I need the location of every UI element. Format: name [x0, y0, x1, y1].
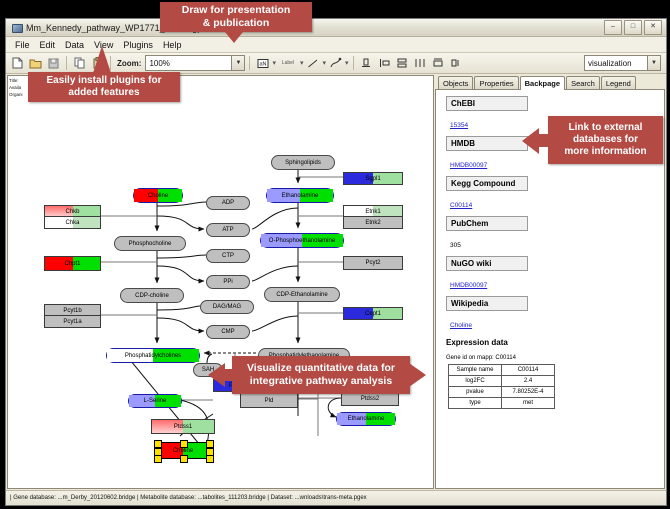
metabolite-label: Phosphocholine	[129, 241, 172, 247]
menu-help[interactable]: Help	[158, 39, 187, 51]
metabolite-label: Phosphatidylcholines	[125, 353, 181, 359]
status-bar: | Gene database: ...m_Derby_20120602.bri…	[6, 490, 666, 505]
callout-plugins: Easily install plugins for added feature…	[28, 72, 180, 102]
database-link[interactable]: C00114	[450, 202, 472, 209]
database-link[interactable]: HMDB00097	[450, 282, 487, 289]
metabolite-label: CMP	[221, 329, 234, 335]
zoom-label: Zoom:	[117, 59, 141, 68]
size-equal-icon[interactable]	[430, 55, 447, 71]
gene-label: Sgpl1	[365, 176, 380, 182]
callout-plugins-arrow-stem	[97, 60, 107, 74]
expression-value: met	[502, 398, 555, 409]
gene-label: Pcyt1a	[63, 319, 81, 325]
database-value: 305	[450, 242, 461, 249]
callout-visualize: Visualize quantitative data for integrat…	[232, 356, 410, 394]
metabolite-node[interactable]: Choline	[156, 442, 210, 459]
interaction-icon[interactable]	[327, 55, 344, 71]
gene-label: Chkb	[65, 209, 79, 215]
tab-search[interactable]: Search	[566, 76, 600, 89]
metabolite-label: O-Phosphoethanolamine	[269, 238, 335, 244]
chevron-down-icon[interactable]: ▼	[231, 56, 244, 70]
expression-key: type	[449, 398, 502, 409]
callout-links-text: Link to external databases for more info…	[564, 122, 646, 158]
table-row: pvalue7.80252E-4	[449, 387, 555, 398]
app-icon	[11, 22, 22, 33]
gene-node[interactable]: Sgpl1	[343, 172, 403, 185]
align-top-icon[interactable]	[358, 55, 375, 71]
metabolite-node[interactable]: PPi	[206, 275, 250, 289]
expression-value: C00114	[502, 365, 555, 376]
menu-plugins[interactable]: Plugins	[118, 39, 158, 51]
callout-visualize-stem-left	[224, 369, 234, 381]
window-controls: – □ ✕	[604, 20, 664, 35]
expression-key: pvalue	[449, 387, 502, 398]
datanode-icon[interactable]: aN	[254, 55, 271, 71]
svg-text:aN: aN	[259, 61, 266, 67]
callout-draw: Draw for presentation & publication	[160, 2, 312, 32]
datanode-dropdown-icon[interactable]: ▾	[272, 59, 276, 67]
metabolite-label: CTP	[222, 253, 234, 259]
selection-handle[interactable]	[206, 455, 214, 463]
callout-visualize-arrow-left	[208, 363, 225, 387]
status-text: | Gene database: ...m_Derby_20120602.bri…	[10, 495, 367, 501]
menu-edit[interactable]: Edit	[35, 39, 61, 51]
metabolite-label: CDP-choline	[135, 293, 169, 299]
database-name-chebi: ChEBI	[446, 96, 528, 111]
expression-key: Sample name	[449, 365, 502, 376]
toolbar-separator	[249, 56, 250, 70]
close-button[interactable]: ✕	[644, 20, 662, 35]
database-link[interactable]: 15354	[450, 122, 468, 129]
metabolite-node[interactable]: Ethanolamine	[336, 412, 396, 426]
interaction-dropdown-icon[interactable]: ▾	[345, 59, 349, 67]
database-link[interactable]: Choline	[450, 322, 472, 329]
gene-node[interactable]: Cept1	[343, 307, 403, 320]
line-dropdown-icon[interactable]: ▾	[322, 59, 326, 67]
metabolite-label: Ethanolamine	[282, 193, 319, 199]
maximize-button[interactable]: □	[624, 20, 642, 35]
chevron-down-icon[interactable]: ▼	[647, 56, 660, 70]
metabolite-node[interactable]: ATP	[206, 223, 250, 237]
metabolite-label: CDP-Ethanolamine	[276, 292, 327, 298]
database-name-kegg-compound: Kegg Compound	[446, 176, 528, 191]
gene-label: Chpt1	[64, 261, 80, 267]
callout-draw-arrow	[225, 32, 243, 43]
stack-vertical-icon[interactable]	[394, 55, 411, 71]
bring-front-icon[interactable]	[448, 55, 465, 71]
gene-label: Pcyt1b	[63, 308, 81, 314]
table-row: Sample nameC00114	[449, 365, 555, 376]
metabolite-node[interactable]: L-Serine	[128, 394, 182, 408]
expression-value: 2.4	[502, 376, 555, 387]
gene-node[interactable]: Pcyt2	[343, 256, 403, 270]
gene-node[interactable]: Pcyt1a	[44, 315, 101, 328]
selection-handle[interactable]	[180, 455, 188, 463]
metabolite-label: Sphingolipids	[285, 160, 321, 166]
metabolite-node[interactable]: CMP	[206, 325, 250, 339]
gene-label: Chka	[65, 220, 79, 226]
gene-label: Pcyt2	[365, 260, 380, 266]
title-bar: Mm_Kennedy_pathway_WP1771_45176.gpml - P…	[6, 19, 666, 37]
expression-data-title: Expression data	[446, 338, 664, 347]
metabolite-node[interactable]: Ethanolamine	[266, 188, 334, 203]
metabolite-node[interactable]: DAG/MAG	[200, 300, 254, 314]
metabolite-node[interactable]: Choline	[133, 188, 183, 203]
toolbar-separator	[66, 56, 67, 70]
gene-node[interactable]: Chpt1	[44, 256, 101, 271]
database-name-pubchem: PubChem	[446, 216, 528, 231]
gene-id-on-mapp: Gene id on mapp: C00114	[446, 355, 664, 361]
align-left-icon[interactable]	[376, 55, 393, 71]
gene-node[interactable]: Chka	[44, 216, 101, 229]
table-row: typemet	[449, 398, 555, 409]
expression-key: log2FC	[449, 376, 502, 387]
callout-links: Link to external databases for more info…	[548, 116, 663, 164]
tab-backpage[interactable]: Backpage	[520, 76, 565, 90]
metabolite-label: L-Serine	[144, 398, 167, 404]
expression-value: 7.80252E-4	[502, 387, 555, 398]
gene-label: Etnk2	[365, 220, 380, 226]
metabolite-label: Choline	[173, 448, 193, 454]
tab-properties[interactable]: Properties	[474, 76, 518, 89]
menu-file[interactable]: File	[10, 39, 35, 51]
tab-objects[interactable]: Objects	[438, 76, 473, 89]
toolbar-separator	[353, 56, 354, 70]
gene-node[interactable]: Ptdss2	[341, 392, 399, 406]
metabolite-node[interactable]: Phosphocholine	[114, 236, 186, 251]
line-icon[interactable]	[304, 55, 321, 71]
pathway-canvas[interactable]: Title: Availa Organi	[7, 75, 434, 489]
callout-links-arrow	[522, 128, 539, 154]
copy-icon[interactable]	[71, 55, 88, 71]
metabolite-label: PPi	[223, 279, 232, 285]
side-panel-tabs: Objects Properties Backpage Search Legen…	[435, 75, 665, 90]
gene-label: Cept1	[365, 311, 381, 317]
metabolite-node[interactable]: CDP-Ethanolamine	[264, 287, 340, 302]
gene-node[interactable]: Etnk2	[343, 216, 403, 229]
metabolite-label: DAG/MAG	[213, 304, 241, 310]
database-name-nugo-wiki: NuGO wiki	[446, 256, 528, 271]
metabolite-node[interactable]: ADP	[206, 196, 250, 210]
table-row: log2FC2.4	[449, 376, 555, 387]
metabolite-label: ATP	[222, 227, 233, 233]
open-folder-icon[interactable]	[27, 55, 44, 71]
menu-data[interactable]: Data	[60, 39, 89, 51]
selection-handle[interactable]	[180, 440, 188, 448]
metabolite-node[interactable]: Sphingolipids	[271, 155, 335, 170]
zoom-combobox[interactable]: 100% ▼	[145, 55, 245, 71]
minimize-button[interactable]: –	[604, 20, 622, 35]
metabolite-node[interactable]: O-Phosphoethanolamine	[260, 233, 344, 248]
save-icon[interactable]	[45, 55, 62, 71]
callout-draw-text: Draw for presentation & publication	[182, 4, 291, 29]
selection-handle[interactable]	[154, 455, 162, 463]
metabolite-node[interactable]: CDP-choline	[120, 288, 184, 303]
label-dropdown-icon[interactable]: ▾	[300, 59, 304, 67]
metabolite-label: Choline	[148, 193, 168, 199]
gene-label: Ptdss2	[361, 396, 379, 402]
gene-label: Ptdss1	[174, 424, 192, 430]
zoom-value: 100%	[149, 59, 169, 68]
metabolite-label: Ethanolamine	[348, 416, 385, 422]
expression-table: Sample nameC00114log2FC2.4pvalue7.80252E…	[448, 364, 555, 409]
visualization-combobox[interactable]: visualization ▼	[584, 55, 661, 71]
callout-links-arrow-stem	[538, 134, 550, 147]
label-icon[interactable]: Label	[277, 55, 299, 71]
gene-node[interactable]: Pld	[240, 393, 298, 408]
gene-label: Etnk1	[365, 209, 380, 215]
new-file-icon[interactable]	[9, 55, 26, 71]
metabolite-node[interactable]: CTP	[206, 249, 250, 263]
distribute-icon[interactable]	[412, 55, 429, 71]
database-link[interactable]: HMDB00097	[450, 162, 487, 169]
metabolite-label: ADP	[222, 200, 234, 206]
gene-label: Pld	[265, 398, 274, 404]
gene-node[interactable]: Ptdss1	[151, 419, 215, 434]
callout-plugins-text: Easily install plugins for added feature…	[46, 75, 161, 99]
database-name-wikipedia: Wikipedia	[446, 296, 528, 311]
callout-visualize-text: Visualize quantitative data for integrat…	[247, 362, 395, 387]
metabolite-node[interactable]: Phosphatidylcholines	[106, 348, 200, 363]
visualization-value: visualization	[588, 59, 632, 68]
database-name-hmdb: HMDB	[446, 136, 528, 151]
callout-visualize-stem-right	[402, 369, 412, 381]
tab-legend[interactable]: Legend	[601, 76, 636, 89]
